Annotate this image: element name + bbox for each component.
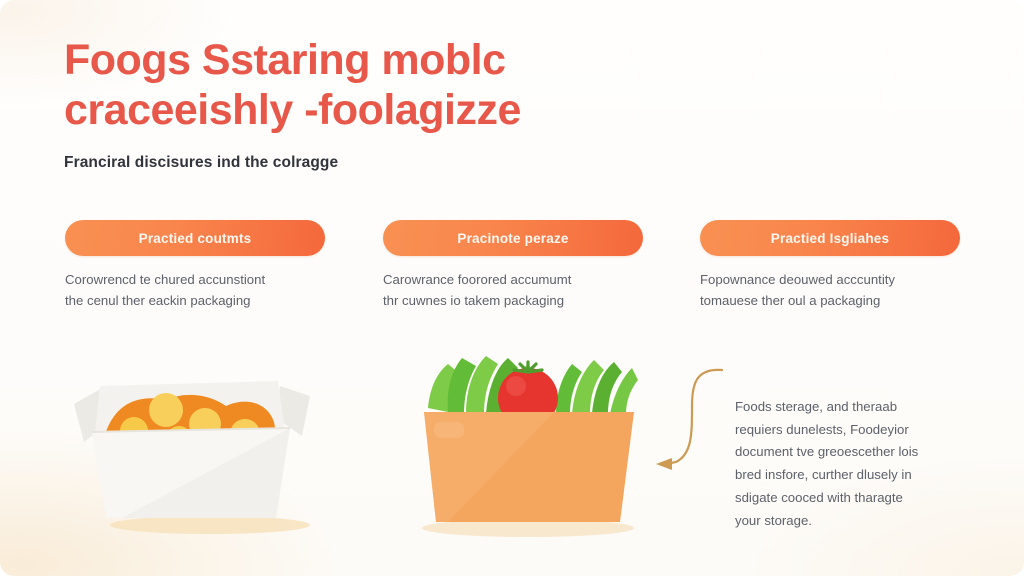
page-subtitle: Franciral discisures ind the colragge: [64, 154, 664, 172]
column-2-body: Carowrance foorored accumumt thr cuwnes …: [383, 269, 643, 312]
column-3: Practied Isgliahes Fopownance deouwed ac…: [700, 220, 960, 312]
column-1-pill-label: Practied coutmts: [139, 231, 252, 246]
header: Foogs Sstaring moblc craceeishly -foolag…: [64, 36, 664, 172]
veg-tomato-stem: [514, 362, 542, 372]
page-title: Foogs Sstaring moblc craceeishly -foolag…: [64, 36, 664, 136]
veg-tomato-highlight: [506, 376, 526, 396]
takeout-box-shadow: [110, 516, 310, 534]
arrow-path: [666, 370, 722, 464]
column-2: Pracinote peraze Carowrance foorored acc…: [383, 220, 643, 312]
takeout-box-illustration: [62, 366, 362, 551]
column-1-pill[interactable]: Practied coutmts: [65, 220, 325, 256]
column-3-pill[interactable]: Practied Isgliahes: [700, 220, 960, 256]
column-3-pill-label: Practied Isgliahes: [771, 231, 889, 246]
infographic-canvas: Foogs Sstaring moblc craceeishly -foolag…: [0, 0, 1024, 576]
column-2-pill[interactable]: Pracinote peraze: [383, 220, 643, 256]
column-3-body: Fopownance deouwed acccuntity tomauese t…: [700, 269, 960, 312]
veg-box-gloss: [434, 422, 464, 438]
arrow-head: [656, 458, 672, 470]
takeout-food-ball-1: [149, 393, 183, 427]
column-1-body: Corowrencd te chured accunstiont the cen…: [65, 269, 325, 312]
note-text: Foods sterage, and theraab requiers dune…: [735, 396, 950, 532]
column-2-pill-label: Pracinote peraze: [457, 231, 568, 246]
veg-leaves-right: [556, 360, 638, 414]
curved-arrow-left-icon: [650, 362, 730, 487]
column-1: Practied coutmts Corowrencd te chured ac…: [65, 220, 325, 312]
vegetable-box-illustration: [404, 352, 654, 550]
